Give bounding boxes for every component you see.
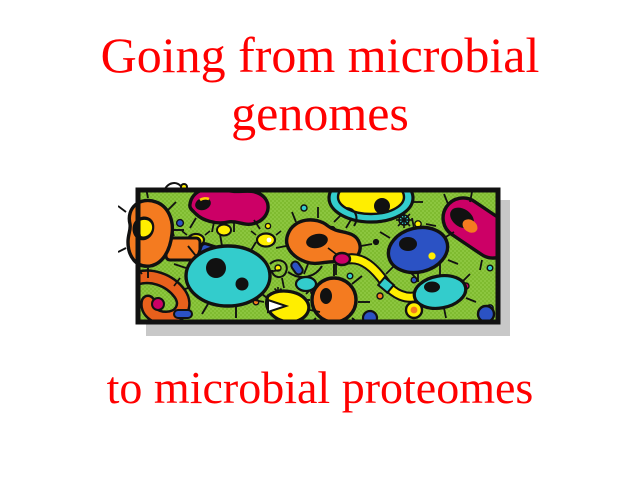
caption-line-1: to microbial proteomes [0,362,640,414]
slide-canvas: Going from microbial genomes [0,0,640,480]
page-title: Going from microbial genomes [0,26,640,142]
microbes-illustration [118,168,518,338]
title-line-1: Going from microbial [0,26,640,84]
microbes-clipart [118,168,518,338]
title-line-2: genomes [0,84,640,142]
page-caption: to microbial proteomes [0,362,640,414]
